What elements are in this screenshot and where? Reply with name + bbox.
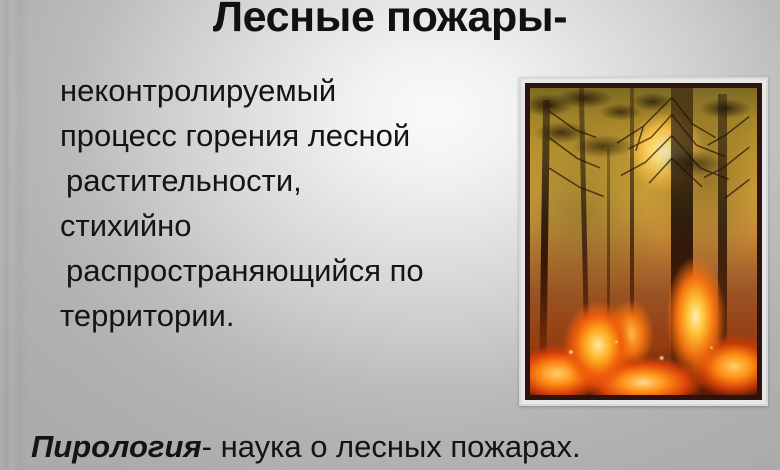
footer-definition-text: - наука о лесных пожарах.: [202, 429, 581, 464]
body-line: процесс горения лесной: [60, 113, 510, 158]
footer-term: Пирология: [31, 429, 202, 464]
photo-frame: [519, 77, 768, 406]
footer-definition: Пирология- наука о лесных пожарах.: [31, 429, 581, 465]
photo-vignette: [530, 88, 757, 395]
body-line: растительности,: [60, 158, 510, 203]
page-title: Лесные пожары-: [0, 0, 780, 42]
body-line: стихийно: [60, 203, 510, 248]
body-line: распространяющийся по: [60, 248, 510, 293]
definition-text-block: неконтролируемый процесс горения лесной …: [60, 68, 510, 338]
wildfire-photo: [530, 88, 757, 395]
body-line: территории.: [60, 293, 510, 338]
slide-canvas: Лесные пожары- неконтролируемый процесс …: [0, 0, 780, 470]
photo-border: [525, 83, 762, 400]
body-line: неконтролируемый: [60, 68, 510, 113]
